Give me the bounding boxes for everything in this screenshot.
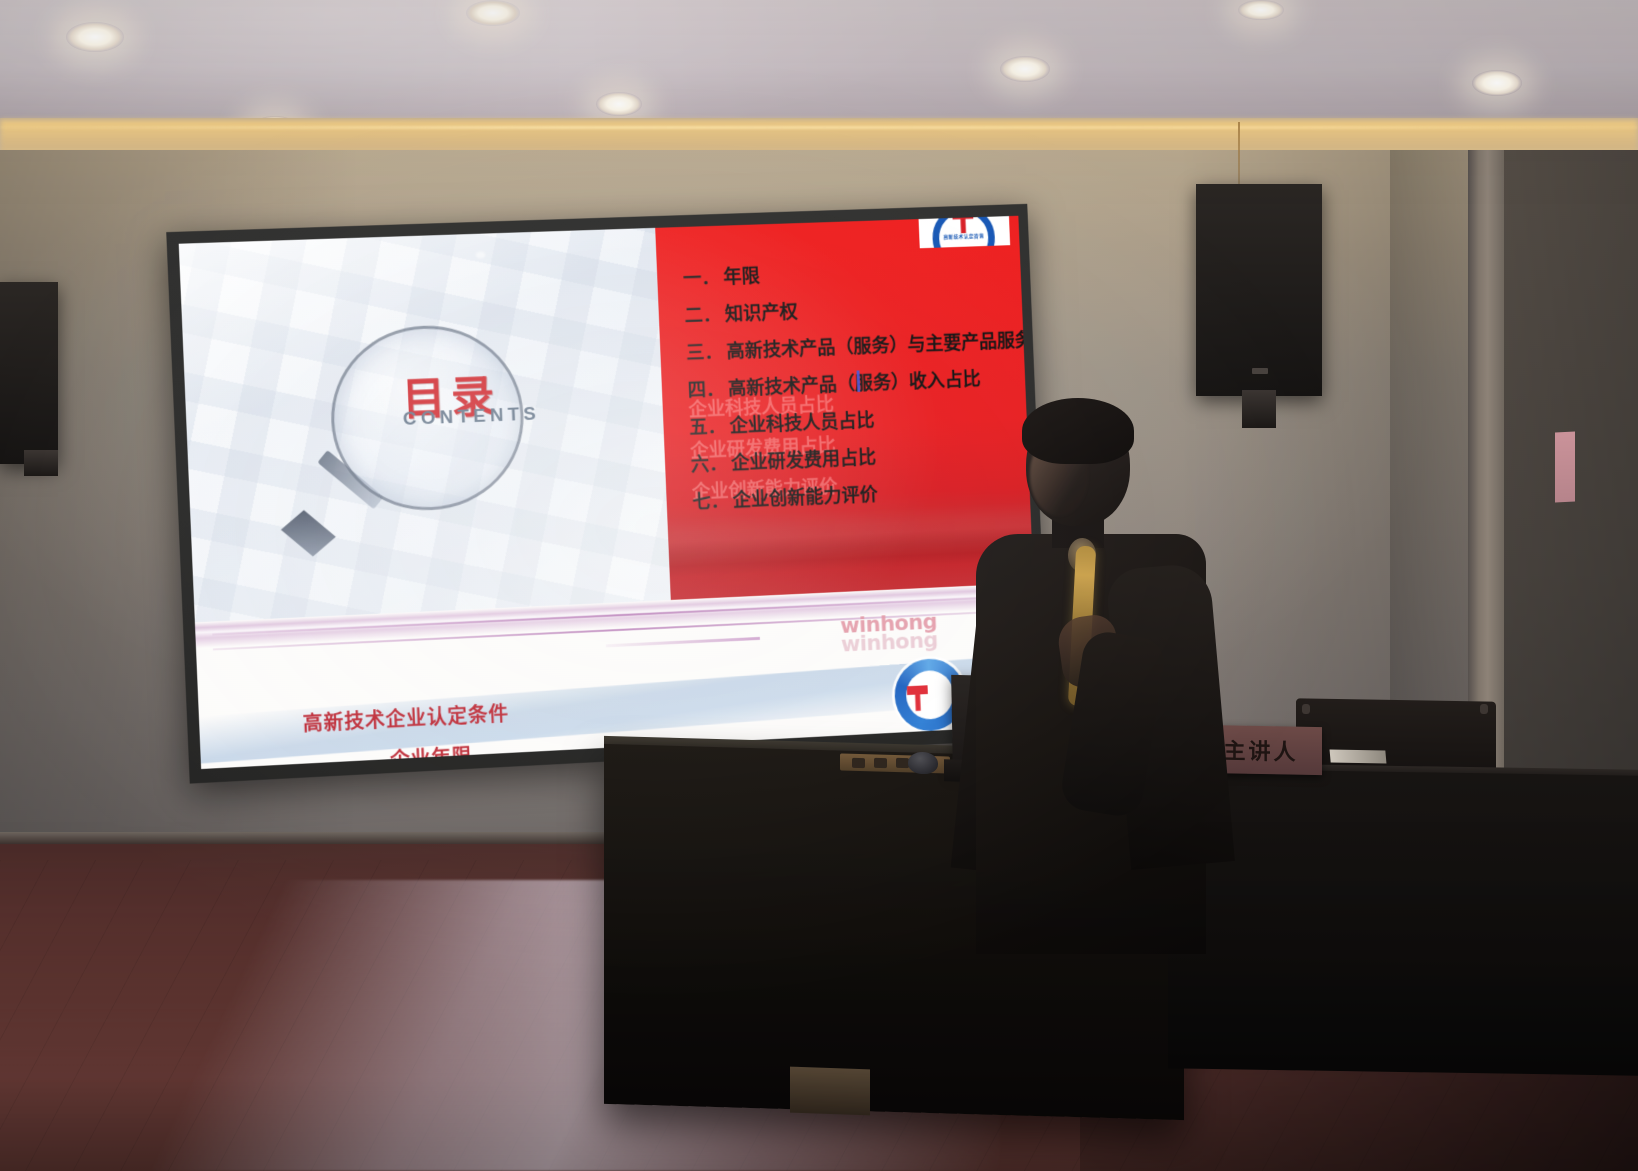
wall-speaker-right xyxy=(1196,184,1322,396)
toc-label: 高新技术产品（服务）与主要产品服务 xyxy=(726,326,1033,364)
presentation-slide: 目录 CONTENTS 高新技术认定咨询 企业科技人员占比 企业研发费用占比 xyxy=(179,216,1040,769)
toc-label: 高新技术产品（服务）收入占比 xyxy=(728,365,982,401)
speaker-bracket-right xyxy=(1242,390,1276,428)
logo-inner-disc xyxy=(905,670,954,721)
ceiling-downlight xyxy=(66,22,124,52)
ceiling-downlight xyxy=(466,0,520,26)
toc-number: 三． xyxy=(686,337,727,365)
wall-speaker-left xyxy=(0,282,58,464)
toc-label: 企业科技人员占比 xyxy=(729,406,875,438)
toc-label: 年限 xyxy=(723,261,761,289)
toc-item[interactable]: 四． 高新技术产品（服务）收入占比 xyxy=(687,363,1015,402)
screen-surface: 目录 CONTENTS 高新技术认定咨询 企业科技人员占比 企业研发费用占比 xyxy=(179,216,1040,769)
toc-number: 六． xyxy=(690,449,731,477)
chair-knob xyxy=(1480,704,1488,714)
toc-label: 企业研发费用占比 xyxy=(731,443,877,475)
toc-label: 企业创新能力评价 xyxy=(732,480,878,513)
computer-mouse[interactable] xyxy=(908,752,938,775)
paper-sheet xyxy=(1330,749,1387,763)
presenter-hair xyxy=(1022,398,1134,464)
power-socket xyxy=(852,758,865,768)
speaker-badge xyxy=(1252,368,1268,374)
toc-number: 二． xyxy=(684,300,725,328)
certification-logo: 高新技术认定咨询 xyxy=(918,216,1010,249)
toc-number: 四． xyxy=(687,374,728,402)
screen-frame: 目录 CONTENTS 高新技术认定咨询 企业科技人员占比 企业研发费用占比 xyxy=(166,204,1049,784)
toc-item[interactable]: 一． 年限 xyxy=(683,253,1011,291)
toc-item[interactable]: 二． 知识产权 xyxy=(684,290,1012,328)
ceiling-downlight xyxy=(1472,70,1522,96)
power-socket xyxy=(874,758,887,768)
projection-screen[interactable]: 目录 CONTENTS 高新技术认定咨询 企业科技人员占比 企业研发费用占比 xyxy=(166,204,1049,784)
wall-notice-poster xyxy=(1555,431,1575,502)
toc-label: 知识产权 xyxy=(724,297,798,326)
watermark-echo-text: winhong xyxy=(840,628,938,657)
ceiling-downlight xyxy=(1238,0,1284,20)
toc-number: 五． xyxy=(689,412,730,440)
speaker-bracket-left xyxy=(24,450,58,476)
watermark-dash xyxy=(606,637,760,647)
toc-number: 七． xyxy=(692,486,733,514)
floor-object-box xyxy=(790,1067,870,1116)
presenter xyxy=(960,398,1240,1098)
speaker-wire-right xyxy=(1238,122,1240,186)
chair-knob xyxy=(1302,704,1310,714)
slide-left-panel: 目录 CONTENTS xyxy=(179,228,671,622)
toc-number: 一． xyxy=(683,263,724,291)
conference-room-scene: 目录 CONTENTS 高新技术认定咨询 企业科技人员占比 企业研发费用占比 xyxy=(0,0,1638,1171)
cove-light-strip xyxy=(0,126,1638,129)
lower-band-subtitle: 企业年限 xyxy=(389,740,472,769)
ceiling-downlight xyxy=(596,92,642,116)
ceiling-downlight xyxy=(1000,56,1050,82)
toc-item[interactable]: 三． 高新技术产品（服务）与主要产品服务 xyxy=(686,327,1014,366)
